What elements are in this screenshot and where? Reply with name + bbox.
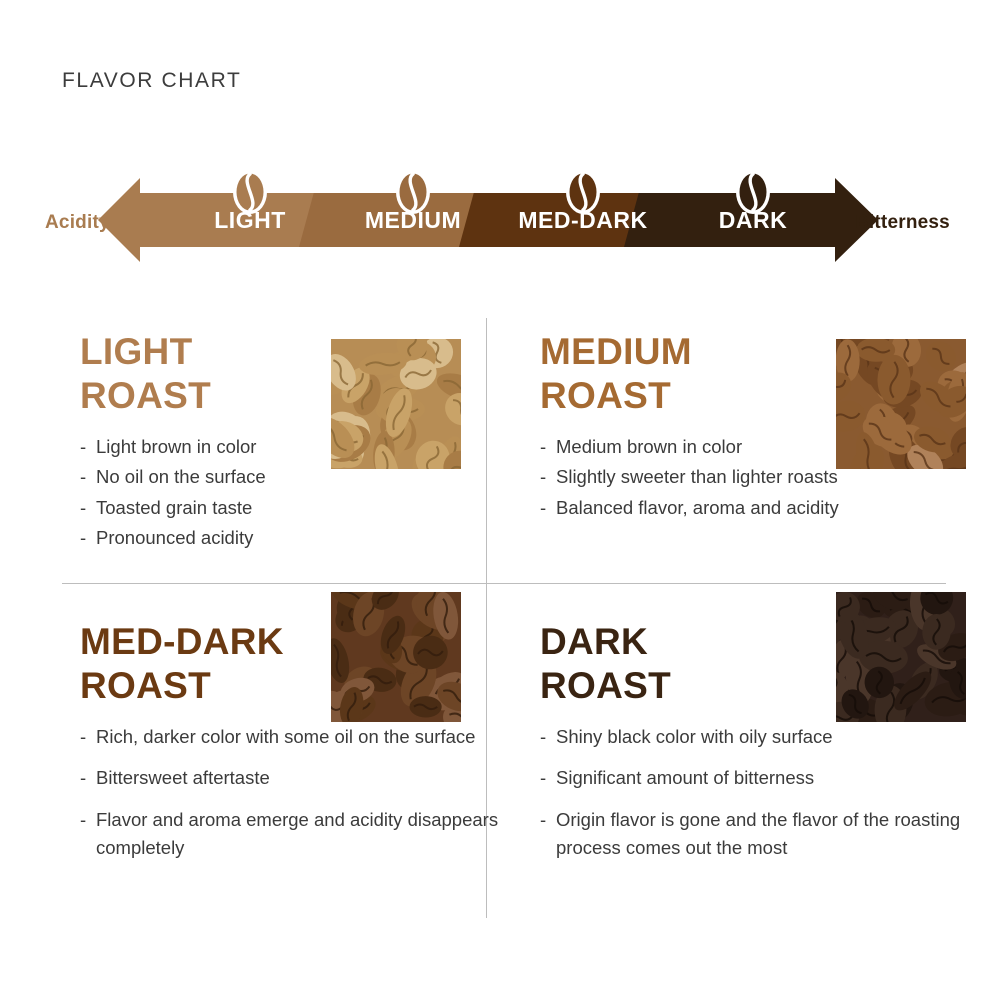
page-title: FLAVOR CHART [62, 69, 241, 93]
axis-label-acidity: Acidity [45, 212, 110, 234]
list-item: Rich, darker color with some oil on the … [80, 723, 510, 751]
roast-scale-bar: LIGHT MEDIUM MED-DARK DARK [0, 170, 1001, 280]
roast-heading-dark: DARK ROAST [540, 620, 970, 707]
list-item: Shiny black color with oily surface [540, 723, 970, 751]
grid-divider-horizontal [62, 583, 946, 584]
coffee-bean-icon-medium [396, 170, 430, 214]
list-item: Toasted grain taste [80, 494, 510, 522]
list-item: Bittersweet aftertaste [80, 764, 510, 792]
roast-heading-medium: MEDIUM ROAST [540, 330, 970, 417]
roast-heading-med-dark: MED-DARK ROAST [80, 620, 510, 707]
roast-card-dark: DARK ROAST Shiny black color with oily s… [540, 620, 970, 875]
list-item: Pronounced acidity [80, 524, 510, 552]
list-item: Origin flavor is gone and the flavor of … [540, 806, 970, 862]
coffee-bean-icon-dark [736, 170, 770, 214]
roast-card-med-dark: MED-DARK ROAST Rich, darker color with s… [80, 620, 510, 875]
roast-heading-light: LIGHT ROAST [80, 330, 510, 417]
roast-bullets-dark: Shiny black color with oily surface Sign… [540, 723, 970, 861]
coffee-bean-icon-med-dark [566, 170, 600, 214]
list-item: Balanced flavor, aroma and acidity [540, 494, 970, 522]
coffee-bean-icon-light [233, 170, 267, 214]
list-item: Flavor and aroma emerge and acidity disa… [80, 806, 510, 862]
axis-label-bitterness: Bitterness [855, 212, 950, 234]
list-item: Significant amount of bitterness [540, 764, 970, 792]
roast-bullets-med-dark: Rich, darker color with some oil on the … [80, 723, 510, 861]
